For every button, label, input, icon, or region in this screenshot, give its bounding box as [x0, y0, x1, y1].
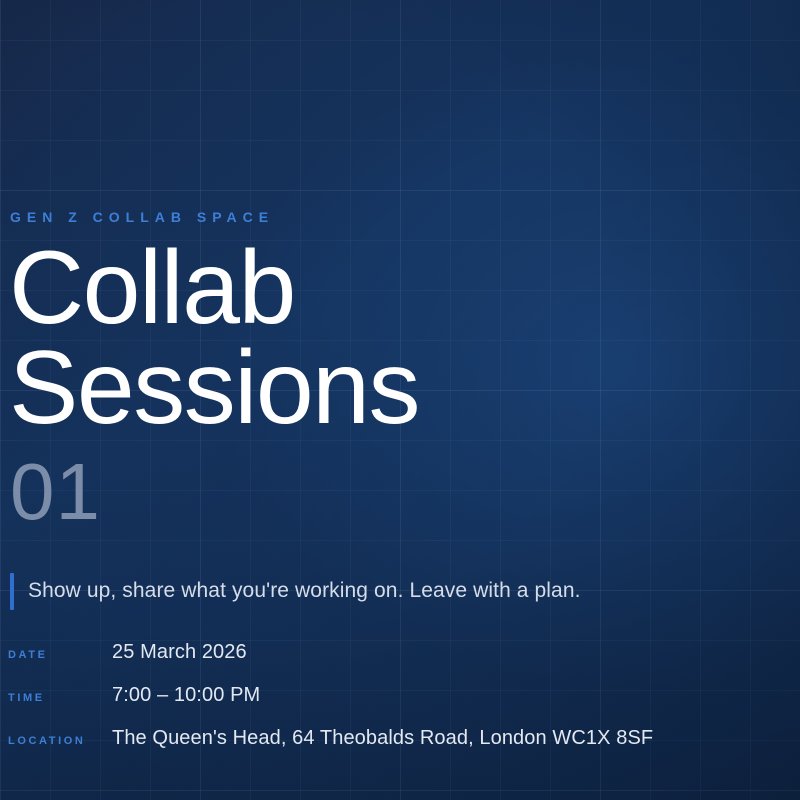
detail-value-location: The Queen's Head, 64 Theobalds Road, Lon… [112, 727, 653, 750]
poster-content: GEN Z COLLAB SPACE Collab Sessions 01 Sh… [0, 0, 800, 800]
tagline: Show up, share what you're working on. L… [10, 571, 581, 611]
event-details: DATE 25 March 2026 TIME 7:00 – 10:00 PM … [8, 641, 788, 770]
detail-row-location: LOCATION The Queen's Head, 64 Theobalds … [8, 727, 788, 770]
detail-label-date: DATE [8, 649, 112, 661]
page-title: Collab Sessions [9, 238, 769, 438]
detail-label-time: TIME [8, 692, 112, 704]
detail-value-date: 25 March 2026 [112, 641, 247, 664]
detail-row-date: DATE 25 March 2026 [8, 641, 788, 684]
detail-label-location: LOCATION [8, 735, 112, 747]
detail-row-time: TIME 7:00 – 10:00 PM [8, 684, 788, 727]
tagline-text: Show up, share what you're working on. L… [28, 579, 581, 603]
detail-value-time: 7:00 – 10:00 PM [112, 684, 260, 707]
edition-number: 01 [10, 452, 101, 532]
eyebrow-label: GEN Z COLLAB SPACE [10, 209, 274, 225]
event-poster: GEN Z COLLAB SPACE Collab Sessions 01 Sh… [0, 0, 800, 800]
accent-bar [10, 573, 14, 610]
title-line-1: Collab [9, 238, 769, 338]
title-line-2: Sessions [9, 338, 769, 438]
